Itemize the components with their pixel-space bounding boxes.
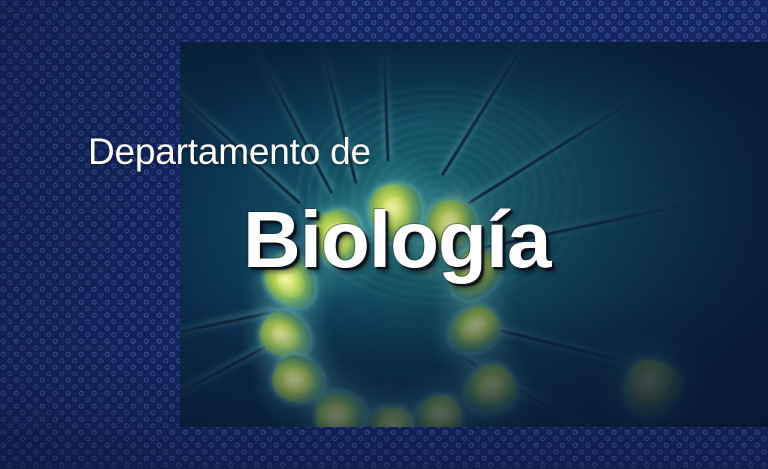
diatom-colony-micrograph [180, 42, 768, 427]
banner: Departamento de Biología [0, 0, 768, 469]
photo-dark-sweep [180, 42, 768, 427]
